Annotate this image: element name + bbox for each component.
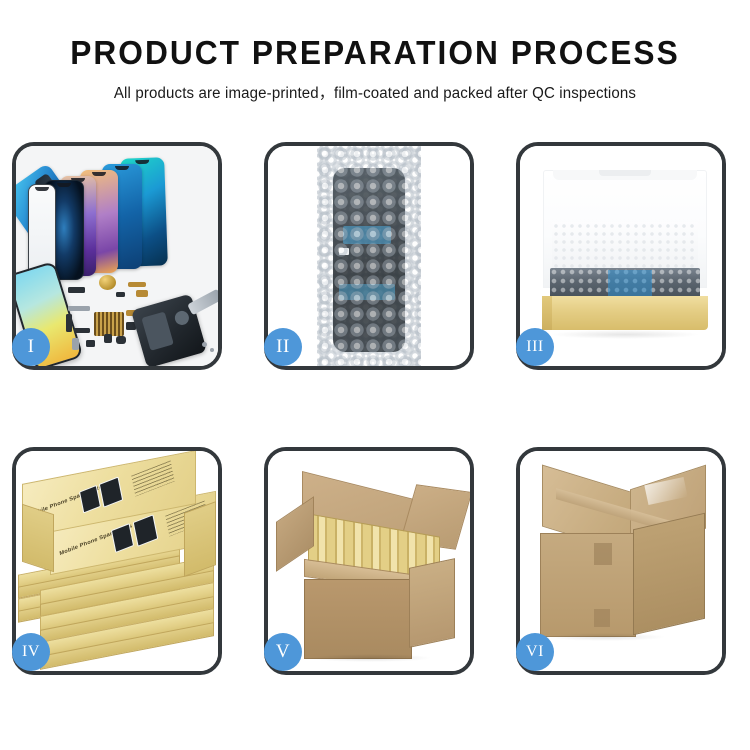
phone-notch-icon xyxy=(135,160,149,164)
carton-front-face xyxy=(540,533,636,637)
carton-side-face xyxy=(409,558,455,648)
mailer-base-icon xyxy=(542,296,708,330)
phone-notch-icon xyxy=(35,187,49,191)
phone-notch-icon xyxy=(57,183,71,187)
drop-shadow xyxy=(546,633,666,641)
product-thumbnail xyxy=(133,514,159,547)
phone-notch-icon xyxy=(92,172,106,176)
carton-front-face xyxy=(304,579,412,659)
step-badge-5: V xyxy=(264,633,302,671)
step-badge-1: I xyxy=(12,328,50,366)
spare-part-icon xyxy=(74,328,90,333)
screw-icon xyxy=(202,342,207,347)
spare-part-icon xyxy=(128,282,146,287)
spare-part-icon xyxy=(72,338,79,350)
process-step-3[interactable]: III xyxy=(516,142,726,370)
step-4-image: Mobile Phone Spare Parts Mobile Phone Sp… xyxy=(16,451,218,671)
process-step-4[interactable]: Mobile Phone Spare Parts Mobile Phone Sp… xyxy=(12,447,222,675)
connector-grid-icon xyxy=(94,312,124,336)
screw-icon xyxy=(210,348,214,352)
step-badge-6: VI xyxy=(516,633,554,671)
process-step-6[interactable]: VI xyxy=(516,447,726,675)
product-thumbnail xyxy=(111,523,134,553)
step-6-image xyxy=(520,451,722,671)
step-badge-2: II xyxy=(264,328,302,366)
step-1-image xyxy=(16,146,218,366)
foam-liner-icon xyxy=(552,222,698,270)
carton-side-face xyxy=(633,513,705,636)
bubble-bag-icon xyxy=(317,146,421,366)
product-thumbnail xyxy=(99,476,123,507)
box-spec-lines xyxy=(131,460,174,496)
sealed-carton-scene xyxy=(520,451,722,671)
process-step-5[interactable]: V xyxy=(264,447,474,675)
spare-part-icon xyxy=(136,290,148,297)
header: PRODUCT PREPARATION PROCESS All products… xyxy=(0,0,750,103)
speaker-part-icon xyxy=(99,275,116,290)
open-carton-scene xyxy=(268,451,470,671)
process-step-2[interactable]: II xyxy=(264,142,474,370)
box-stack-right-side xyxy=(184,501,216,577)
process-step-grid: I II xyxy=(12,142,738,675)
carton-edge-tab xyxy=(594,609,610,627)
page-subtitle: All products are image-printed，film-coat… xyxy=(11,71,739,103)
spare-part-icon xyxy=(116,292,125,297)
phone-notch-icon xyxy=(115,166,129,170)
product-preparation-infographic: PRODUCT PREPARATION PROCESS All products… xyxy=(0,0,750,750)
carton-edge-tab xyxy=(594,543,612,565)
drop-shadow xyxy=(550,330,700,339)
mailer-box-scene xyxy=(520,146,722,366)
spare-part-icon xyxy=(104,334,112,343)
drop-shadow xyxy=(308,654,432,662)
page-title: PRODUCT PREPARATION PROCESS xyxy=(15,0,735,71)
bubble-wrap-scene xyxy=(268,146,470,366)
step-badge-3: III xyxy=(516,328,554,366)
process-step-1[interactable]: I xyxy=(12,142,222,370)
spare-part-icon xyxy=(68,306,90,311)
repair-tool-icon xyxy=(187,289,218,316)
spare-part-icon xyxy=(66,314,72,332)
step-badge-4: IV xyxy=(12,633,50,671)
bubble-texture-front xyxy=(317,146,421,366)
box-stack-left-side xyxy=(22,504,54,572)
spare-part-icon xyxy=(68,287,85,293)
step-2-image xyxy=(268,146,470,366)
phone-parts-scene xyxy=(16,146,218,366)
step-5-image xyxy=(268,451,470,671)
blue-film-strip xyxy=(608,270,652,296)
spare-part-icon xyxy=(86,340,95,347)
spare-part-icon xyxy=(116,336,126,344)
stacked-boxes-scene: Mobile Phone Spare Parts Mobile Phone Sp… xyxy=(16,451,218,671)
step-3-image xyxy=(520,146,722,366)
